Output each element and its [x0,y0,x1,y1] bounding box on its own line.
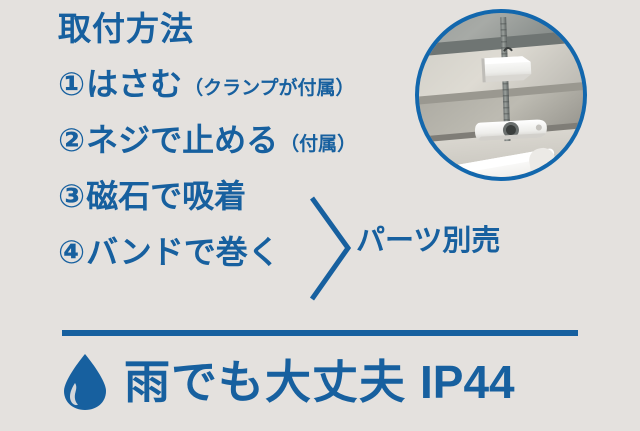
list-item-note: （クランプが付属） [184,79,354,98]
parts-sold-separately-group: パーツ別売 [310,196,560,301]
list-item-number: ① [58,68,85,100]
list-item-label: ネジで止める [86,124,278,156]
waterproof-label: 雨でも大丈夫 [124,359,406,405]
list-item-number: ③ [58,180,85,212]
ip-rating-badge: IP44 [420,359,515,405]
product-feature-poster: 取付方法 ① はさむ （クランプが付属） ② ネジで止める （付属） ③ 磁石で… [0,0,640,431]
list-item: ② ネジで止める （付属） [58,124,478,180]
list-item-label: バンドで巻く [86,236,280,268]
list-item-note: （付属） [280,135,356,154]
list-item-label: はさむ [86,68,182,100]
page-title: 取付方法 [58,11,194,47]
list-item-number: ④ [58,236,85,268]
waterproof-banner: 雨でも大丈夫 IP44 [62,346,515,418]
horizontal-rule [62,330,578,336]
water-drop-icon [62,353,108,411]
list-item-number: ② [58,124,85,156]
parts-sold-separately-label: パーツ別売 [356,227,500,256]
list-item-label: 磁石で吸着 [86,180,246,212]
installation-photo [415,9,587,181]
brace-right-icon [310,196,354,301]
installation-photo-image [419,13,583,177]
